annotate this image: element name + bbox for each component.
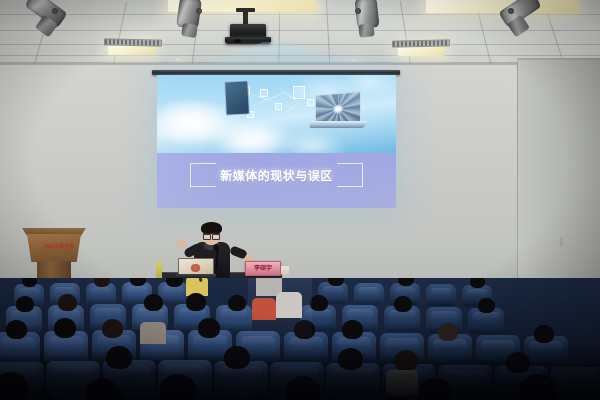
seat	[550, 367, 600, 400]
podium-inscription: 河北工程大学	[35, 244, 83, 250]
audience-clothing	[276, 292, 302, 318]
audience-head	[342, 320, 363, 339]
audience-head	[294, 320, 315, 339]
audience-head	[534, 325, 554, 343]
audience-head	[58, 294, 77, 311]
audience-head	[6, 320, 27, 339]
network-link	[283, 98, 304, 115]
spotlight-knob	[196, 8, 202, 14]
slide-title-text: 新媒体的现状与误区	[157, 167, 396, 184]
stage-spotlight	[22, 0, 72, 42]
laptop-base	[308, 121, 367, 128]
audience-head	[224, 346, 250, 369]
seat	[354, 283, 384, 305]
podium-front-panel: 河北工程大学	[27, 234, 81, 262]
audience-head	[198, 318, 220, 338]
audience-head	[506, 352, 530, 373]
wall-corner	[517, 62, 518, 312]
laptop-device	[315, 93, 371, 131]
stage-spotlight	[348, 0, 392, 42]
audience-head	[144, 294, 163, 311]
audience-head	[0, 372, 28, 400]
network-link	[253, 91, 289, 106]
wall-scuff	[560, 237, 563, 247]
presenter-left-hand	[176, 238, 187, 249]
spotlight-snoot	[358, 23, 374, 37]
stage-spotlight	[494, 0, 550, 44]
audience-seating	[0, 278, 600, 400]
stage-spotlight	[172, 0, 216, 42]
ceiling-wall-junction-right	[517, 58, 600, 60]
projector-base	[225, 37, 271, 44]
audience-head	[186, 293, 206, 311]
audience-head	[470, 278, 485, 288]
audience-head	[16, 296, 34, 312]
audience-head	[106, 346, 132, 369]
glasses-icon	[203, 233, 220, 238]
microphone-icon	[213, 244, 219, 251]
water-bottle	[156, 262, 162, 278]
audience-head	[22, 278, 37, 287]
audience-head	[228, 295, 246, 311]
name-placard-text: 李硕宇	[246, 264, 280, 273]
audience-head	[438, 323, 458, 341]
spotlight-knob	[52, 8, 58, 14]
presenter-laptop	[176, 258, 216, 278]
panel-light	[176, 58, 181, 61]
lecture-hall-photo: 新媒体的现状与误区 河北工程大学 李硕宇	[0, 0, 600, 400]
ceiling-wall-junction	[0, 63, 600, 65]
ceiling-seam	[0, 44, 600, 45]
audience-head	[394, 350, 418, 371]
audience-head	[520, 374, 556, 400]
audience-head	[102, 319, 123, 338]
network-node	[275, 103, 282, 110]
name-placard: 李硕宇	[245, 261, 281, 276]
network-node	[260, 89, 268, 97]
audience-head	[338, 348, 363, 370]
audience-clothing	[252, 298, 276, 320]
projector-mount-plate	[236, 8, 255, 12]
seat	[192, 392, 258, 400]
tablet-device	[224, 80, 250, 115]
slide-hero-image	[157, 75, 396, 153]
seat	[426, 284, 456, 306]
audience-head	[394, 296, 412, 312]
projector-lens	[234, 39, 241, 43]
air-vent	[392, 39, 450, 47]
network-node	[307, 99, 314, 106]
panel-light	[352, 59, 357, 62]
air-vent	[104, 38, 162, 46]
audience-head	[286, 376, 320, 400]
audience-clothing	[140, 322, 166, 344]
paper-cup	[281, 266, 289, 276]
laptop-sticker	[190, 264, 201, 272]
network-node	[293, 86, 305, 99]
audience-head	[478, 298, 495, 313]
seat	[332, 394, 398, 400]
spotlight-knob	[508, 8, 514, 14]
audience-head	[86, 378, 118, 400]
audience-head	[160, 374, 196, 400]
audience-head	[418, 378, 452, 400]
spotlight-knob	[355, 8, 361, 14]
spotlight-snoot	[181, 23, 198, 38]
audience-head	[54, 318, 76, 338]
audience-clothing	[386, 370, 418, 396]
projection-screen: 新媒体的现状与误区	[157, 75, 396, 208]
audience-head	[310, 295, 328, 311]
